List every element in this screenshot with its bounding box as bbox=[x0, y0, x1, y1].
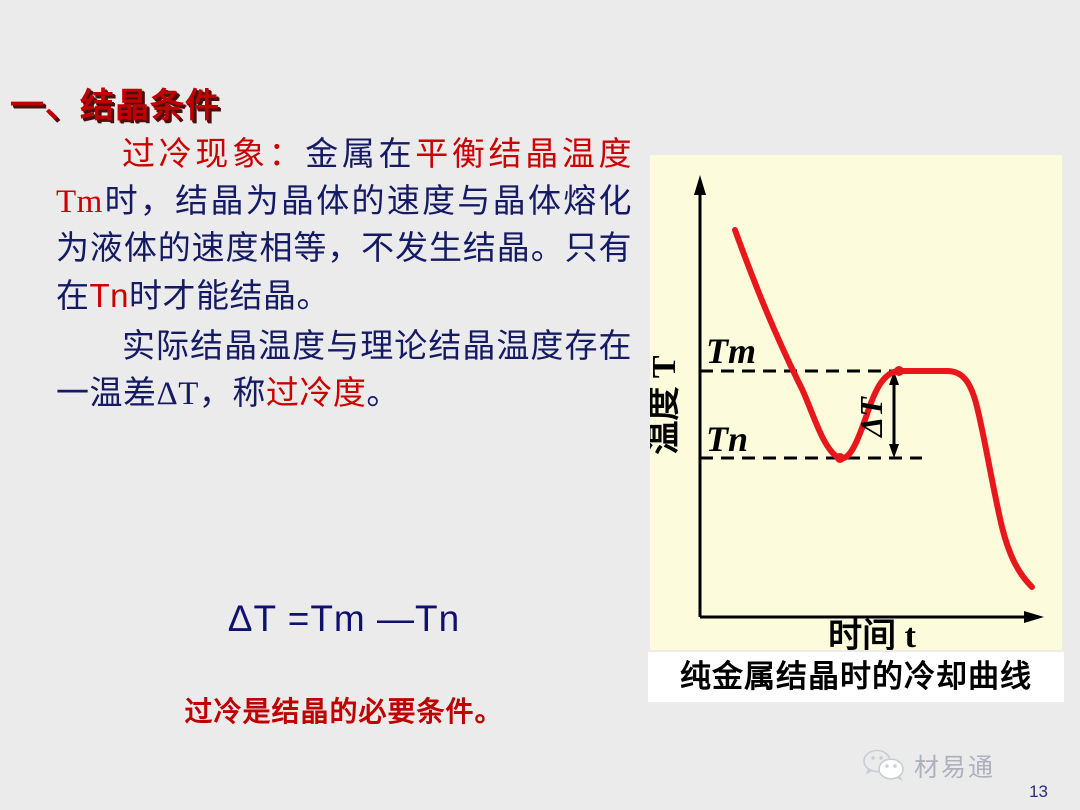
phrase-metal-at: 金属在 bbox=[305, 137, 415, 173]
y-axis-title: 温度 T bbox=[650, 355, 683, 454]
paragraph-undercooling-degree: 实际结晶温度与理论结晶温度存在一温差ΔT，称过冷度。 bbox=[56, 324, 632, 418]
body-text-column: 过冷现象：金属在平衡结晶温度Tm时，结晶为晶体的速度与晶体熔化为液体的速度相等，… bbox=[56, 132, 632, 422]
formula-delta-t: ΔT =Tm —Tn bbox=[56, 598, 632, 640]
delta-t-arrow bbox=[889, 371, 899, 458]
watermark: 材易通 bbox=[862, 748, 995, 784]
marker-undercool-minimum bbox=[835, 453, 845, 463]
phrase-only-then-crystallize: 时才能结晶。 bbox=[129, 279, 330, 315]
tn-label: Tn bbox=[706, 419, 748, 459]
chart-canvas: Tm Tn ΔT 温度 T 时间 t bbox=[650, 155, 1062, 650]
page-title: 一、结晶条件 bbox=[10, 78, 220, 127]
tm-label: Tm bbox=[706, 331, 756, 371]
wechat-icon bbox=[862, 749, 906, 783]
phrase-supercooling-phenomenon: 过冷现象： bbox=[122, 137, 305, 173]
delta-t-label: ΔT bbox=[853, 396, 889, 439]
marker-recalescence-point bbox=[894, 366, 904, 376]
phrase-period: 。 bbox=[366, 376, 400, 412]
phrase-undercooling-degree: 过冷度 bbox=[266, 376, 367, 412]
paragraph-supercooling-definition: 过冷现象：金属在平衡结晶温度Tm时，结晶为晶体的速度与晶体熔化为液体的速度相等，… bbox=[56, 132, 632, 320]
page-number: 13 bbox=[1029, 782, 1048, 802]
brand-label: 材易通 bbox=[914, 748, 995, 784]
cooling-curve-chart: Tm Tn ΔT 温度 T 时间 t bbox=[650, 155, 1062, 650]
chart-caption: 纯金属结晶时的冷却曲线 bbox=[648, 652, 1064, 702]
x-axis-title: 时间 t bbox=[828, 617, 916, 650]
y-axis bbox=[694, 175, 706, 617]
closing-statement: 过冷是结晶的必要条件。 bbox=[56, 690, 632, 730]
phrase-tn: Tn bbox=[90, 277, 130, 314]
